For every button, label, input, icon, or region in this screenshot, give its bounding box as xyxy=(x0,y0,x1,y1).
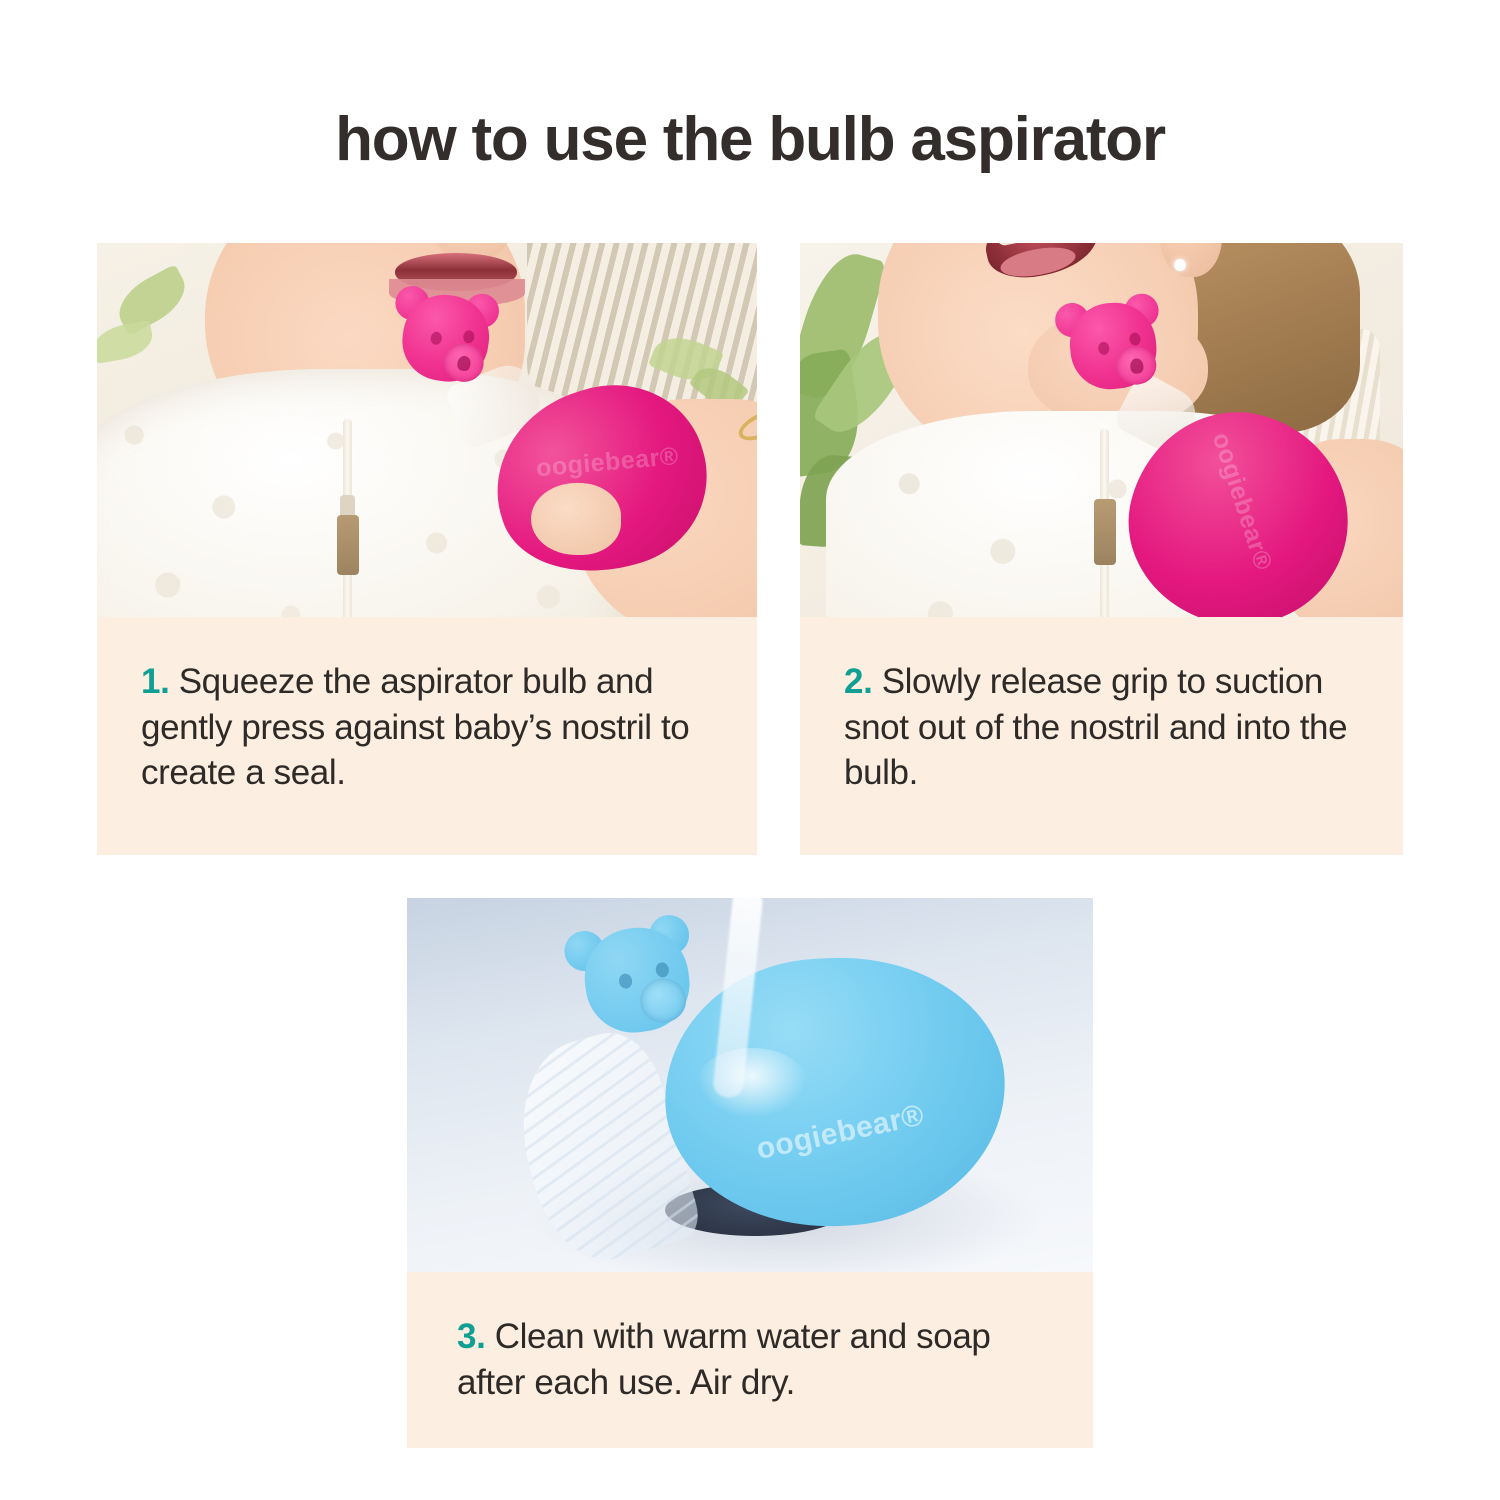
zipper-pull-tab xyxy=(337,515,359,575)
adult-thumb xyxy=(531,483,621,555)
step-1-text: 1. Squeeze the aspirator bulb and gently… xyxy=(141,659,713,796)
step-2-caption: 2. Slowly release grip to suction snot o… xyxy=(800,617,1403,855)
step-3-text: 3. Clean with warm water and soap after … xyxy=(457,1314,1043,1405)
step-2-instruction: Slowly release grip to suction snot out … xyxy=(844,662,1347,792)
step-1-photo: oogiebear® xyxy=(97,243,757,617)
step-card-1: oogiebear® 1. Squeeze the aspirator bulb… xyxy=(97,243,757,855)
step-3-caption: 3. Clean with warm water and soap after … xyxy=(407,1272,1093,1448)
water-splash xyxy=(697,1048,807,1118)
brand-logo-embossed: oogiebear® xyxy=(1206,429,1278,574)
bear-eye-left xyxy=(430,331,443,345)
step-3-instruction: Clean with warm water and soap after eac… xyxy=(457,1317,990,1402)
step-2-text: 2. Slowly release grip to suction snot o… xyxy=(844,659,1359,796)
bear-nozzle-icon xyxy=(1057,292,1166,398)
bear-nozzle-icon xyxy=(389,283,501,392)
page-title: how to use the bulb aspirator xyxy=(0,104,1500,175)
step-1-caption: 1. Squeeze the aspirator bulb and gently… xyxy=(97,617,757,855)
step-3-photo: oogiebear® xyxy=(407,898,1093,1272)
step-card-3: oogiebear® 3. Clean with warm water and … xyxy=(407,898,1093,1448)
bear-eye-right xyxy=(655,962,670,979)
step-3-number: 3. xyxy=(457,1317,485,1356)
step-2-number: 2. xyxy=(844,662,872,701)
bear-eye-right xyxy=(462,330,475,344)
earring-stud xyxy=(1174,259,1186,271)
bear-eye-left xyxy=(1098,341,1110,355)
step-card-2: oogiebear® 2. Slowly release grip to suc… xyxy=(800,243,1403,855)
bear-eye-right xyxy=(1129,332,1141,346)
step-2-photo: oogiebear® xyxy=(800,243,1403,617)
zipper-pull-tab xyxy=(1094,499,1116,565)
bear-snout xyxy=(637,976,689,1026)
bear-nozzle-icon xyxy=(567,912,706,1048)
bear-eye-left xyxy=(618,973,633,990)
brand-logo-embossed: oogiebear® xyxy=(535,442,680,483)
step-1-number: 1. xyxy=(141,662,169,701)
step-1-instruction: Squeeze the aspirator bulb and gently pr… xyxy=(141,662,689,792)
